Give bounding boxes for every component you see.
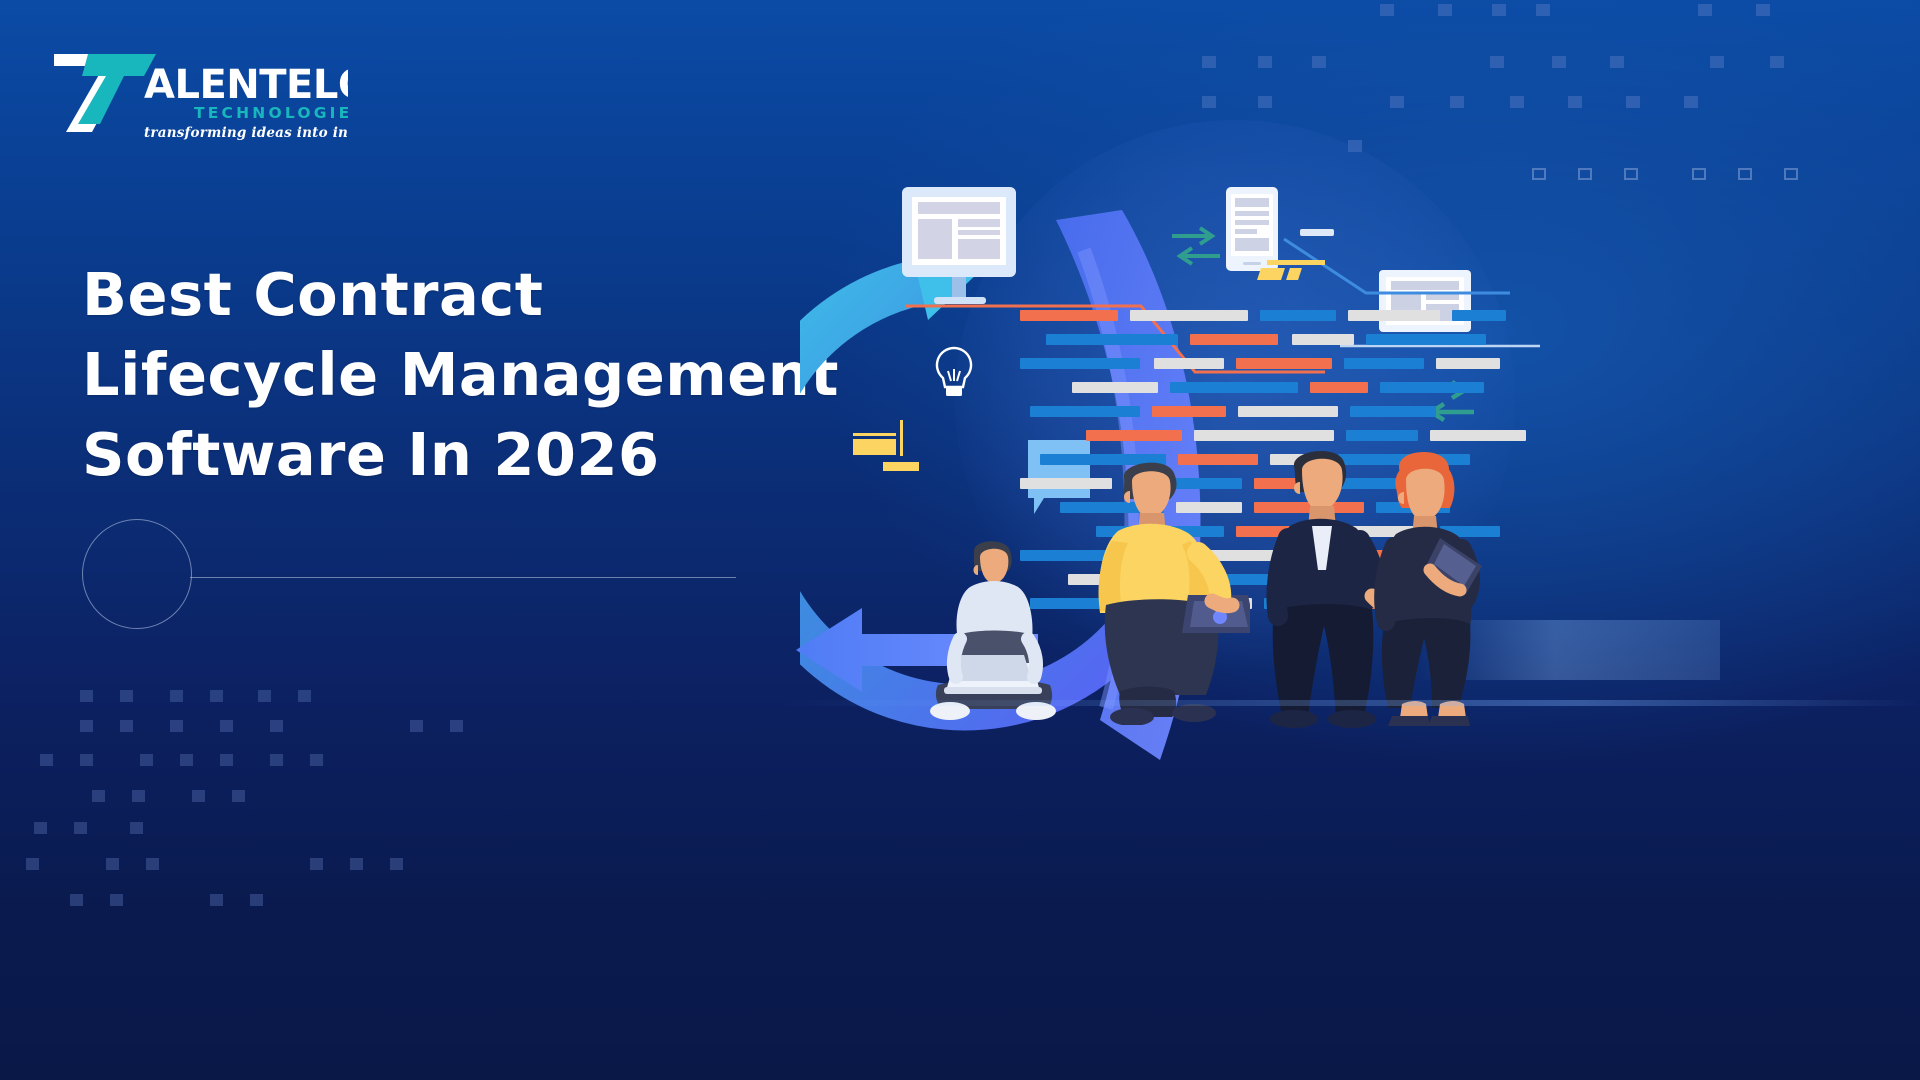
data-bar xyxy=(1154,358,1224,369)
exchange-arrows-icon-top xyxy=(1170,225,1222,267)
data-bar xyxy=(1152,406,1226,417)
data-bar xyxy=(1190,334,1278,345)
data-bar xyxy=(1020,358,1140,369)
square-dot-grid-bottom-left xyxy=(10,680,630,1080)
data-bar xyxy=(1130,310,1248,321)
hero-illustration xyxy=(780,0,1920,1080)
page-title: Best Contract Lifecycle Management Softw… xyxy=(82,255,862,495)
data-bar xyxy=(1430,430,1526,441)
hero-banner: ALENTELGIA TECHNOLOGIES transforming ide… xyxy=(0,0,1920,1080)
data-bar xyxy=(1170,382,1298,393)
person-sitting-with-laptop xyxy=(928,535,1058,725)
data-bar xyxy=(1260,310,1336,321)
data-bar xyxy=(1436,358,1500,369)
data-bar xyxy=(1238,406,1338,417)
lightbulb-icon xyxy=(930,345,978,403)
svg-text:TECHNOLOGIES: TECHNOLOGIES xyxy=(194,104,348,122)
data-bar xyxy=(1452,310,1506,321)
headline-line-3: Software In 2026 xyxy=(82,415,862,495)
horizontal-rule-decoration xyxy=(190,577,736,578)
data-bar xyxy=(1072,382,1158,393)
person-standing-man xyxy=(1260,440,1380,730)
data-bar xyxy=(1292,334,1354,345)
data-bar xyxy=(1020,310,1118,321)
data-bar xyxy=(1350,406,1436,417)
data-bar xyxy=(1046,334,1178,345)
yellow-block-4 xyxy=(883,462,919,471)
person-on-bench-with-laptop xyxy=(1070,455,1250,725)
data-bar xyxy=(1348,310,1440,321)
yellow-dash-1 xyxy=(1267,260,1325,265)
yellow-dash-2 xyxy=(853,433,896,436)
svg-text:transforming ideas into innova: transforming ideas into innovation xyxy=(144,125,348,141)
data-bar xyxy=(1236,358,1332,369)
circle-outline-decoration xyxy=(82,519,192,629)
brand-logo[interactable]: ALENTELGIA TECHNOLOGIES transforming ide… xyxy=(48,36,348,141)
svg-text:ALENTELGIA: ALENTELGIA xyxy=(144,62,348,108)
headline-line-1: Best Contract xyxy=(82,255,862,335)
floor-line xyxy=(780,700,1920,706)
logo-mark-7t-icon: ALENTELGIA TECHNOLOGIES transforming ide… xyxy=(48,36,348,141)
yellow-block-1 xyxy=(1257,268,1285,280)
data-bar xyxy=(1310,382,1368,393)
data-bar xyxy=(1086,430,1182,441)
data-bar xyxy=(1030,406,1140,417)
yellow-tick xyxy=(900,420,903,456)
headline-line-2: Lifecycle Management xyxy=(82,335,862,415)
person-standing-woman-with-tablet xyxy=(1370,448,1485,733)
data-bar xyxy=(1344,358,1424,369)
yellow-block-3 xyxy=(853,439,896,455)
data-bar xyxy=(1380,382,1484,393)
data-bar xyxy=(1366,334,1486,345)
